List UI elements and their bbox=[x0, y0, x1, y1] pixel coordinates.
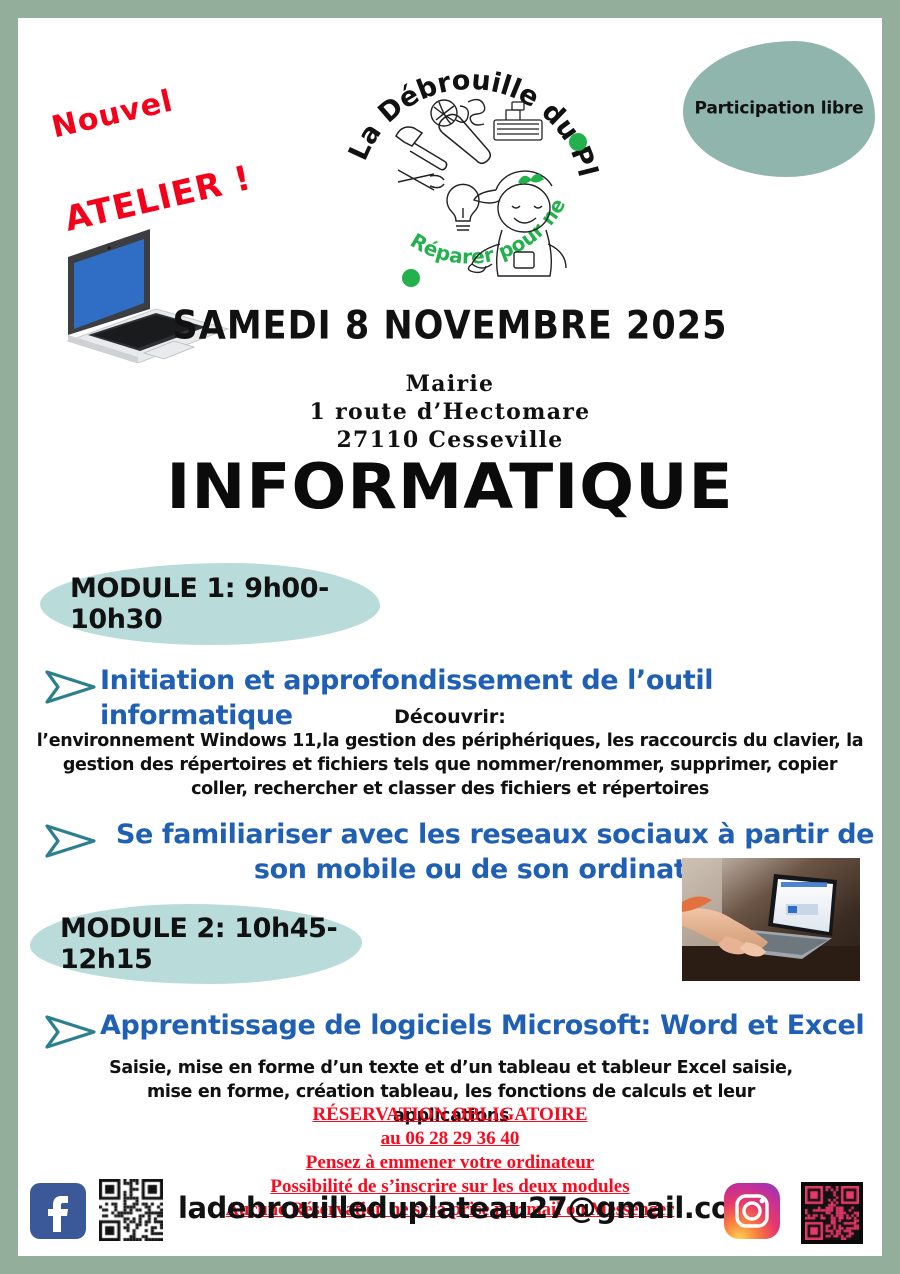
venue-street: 1 route d’Hectomare bbox=[18, 398, 882, 426]
yarn-ball-icon bbox=[431, 100, 468, 126]
svg-text:La Débrouille du Plateau: La Débrouille du Plateau bbox=[336, 30, 603, 180]
module-2-pill: MODULE 2: 10h45-12h15 bbox=[30, 904, 362, 984]
contact-email[interactable]: ladebrouilleduplateau27@gmail.com bbox=[178, 1191, 760, 1225]
poster-sheet: Nouvel ATELIER ! La Débrouille du Platea… bbox=[18, 18, 882, 1256]
event-date: SAMEDI 8 NOVEMBRE 2025 bbox=[18, 304, 882, 349]
venue-name: Mairie bbox=[18, 370, 882, 398]
module-1-label: MODULE 1: 9h00-10h30 bbox=[40, 573, 380, 635]
module-2-label: MODULE 2: 10h45-12h15 bbox=[30, 913, 362, 975]
module-1-body-text: l’environnement Windows 11,la gestion de… bbox=[32, 730, 868, 802]
logo-dot-right bbox=[569, 133, 587, 151]
instagram-icon[interactable] bbox=[724, 1183, 780, 1239]
facebook-qr-code[interactable] bbox=[94, 1174, 168, 1246]
bullet-item-3: Apprentissage de logiciels Microsoft: Wo… bbox=[42, 1009, 882, 1053]
logo-dot-left bbox=[402, 269, 420, 287]
reservation-line-1: RÉSERVATION OBLIGATOIRE bbox=[18, 1103, 882, 1127]
lightbulb-icon bbox=[447, 184, 479, 230]
reservation-line-3: Pensez à emmener votre ordinateur bbox=[18, 1151, 882, 1175]
arrow-right-icon bbox=[42, 1011, 100, 1053]
reservation-phone: au 06 28 29 36 40 bbox=[18, 1127, 882, 1151]
association-logo: La Débrouille du Plateau Réparer pour ne… bbox=[336, 30, 604, 298]
badge-label: Participation libre bbox=[683, 99, 875, 119]
footer-bar: ladebrouilleduplateau27@gmail.com bbox=[18, 1177, 882, 1255]
arrow-right-icon bbox=[42, 820, 100, 862]
participation-badge: Participation libre bbox=[683, 41, 875, 177]
page-title: INFORMATIQUE bbox=[18, 450, 882, 523]
hammer-icon bbox=[396, 127, 447, 170]
scissors-icon bbox=[468, 100, 485, 125]
facebook-icon[interactable] bbox=[30, 1183, 86, 1239]
bullet-3-heading: Apprentissage de logiciels Microsoft: Wo… bbox=[100, 1009, 870, 1044]
pruning-shears-icon bbox=[398, 170, 444, 190]
module-1-pill: MODULE 1: 9h00-10h30 bbox=[40, 563, 380, 645]
discover-subheading: Découvrir: bbox=[18, 706, 882, 728]
event-address: Mairie 1 route d’Hectomare 27110 Cessevi… bbox=[18, 370, 882, 454]
arrow-right-icon bbox=[42, 666, 100, 708]
poster-root: Nouvel ATELIER ! La Débrouille du Platea… bbox=[0, 0, 900, 1274]
instagram-qr-code[interactable] bbox=[801, 1182, 863, 1244]
banner-line-1: Nouvel bbox=[48, 67, 235, 149]
typing-photo bbox=[682, 858, 860, 981]
